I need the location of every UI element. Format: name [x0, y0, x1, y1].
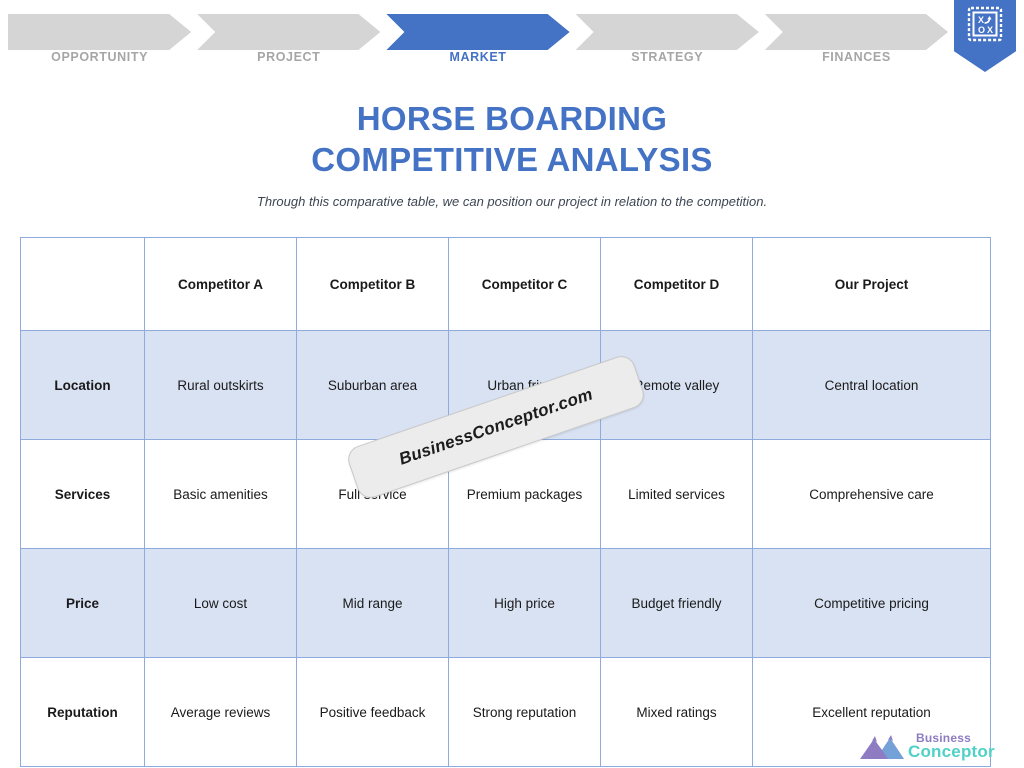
table-header-row: Competitor A Competitor B Competitor C C…: [21, 238, 991, 331]
svg-text:X: X: [978, 15, 984, 25]
step-label-project[interactable]: PROJECT: [197, 44, 380, 70]
svg-text:O: O: [978, 25, 985, 35]
step-label-opportunity[interactable]: OPPORTUNITY: [8, 44, 191, 70]
table-corner-cell: [21, 238, 145, 331]
brand-logo: Business Conceptor: [858, 730, 1010, 764]
column-header-competitor-a: Competitor A: [145, 238, 297, 331]
page-title-block: HORSE BOARDING COMPETITIVE ANALYSIS Thro…: [0, 98, 1024, 209]
cell-reputation-competitor-a: Average reviews: [145, 658, 297, 767]
cell-price-competitor-a: Low cost: [145, 549, 297, 658]
cell-reputation-competitor-b: Positive feedback: [297, 658, 449, 767]
column-header-competitor-c: Competitor C: [449, 238, 601, 331]
column-header-our-project: Our Project: [753, 238, 991, 331]
stepper-labels: OPPORTUNITY PROJECT MARKET STRATEGY FINA…: [8, 44, 948, 70]
cell-price-our-project: Competitive pricing: [753, 549, 991, 658]
page-title-line1: HORSE BOARDING: [0, 98, 1024, 139]
cell-services-competitor-a: Basic amenities: [145, 440, 297, 549]
strategy-playbook-icon: X O X: [965, 4, 1005, 44]
cell-location-our-project: Central location: [753, 331, 991, 440]
cell-services-our-project: Comprehensive care: [753, 440, 991, 549]
row-label-reputation: Reputation: [21, 658, 145, 767]
row-label-services: Services: [21, 440, 145, 549]
svg-text:X: X: [987, 25, 993, 35]
competitive-analysis-table: Competitor A Competitor B Competitor C C…: [20, 237, 991, 767]
cell-reputation-competitor-c: Strong reputation: [449, 658, 601, 767]
column-header-competitor-b: Competitor B: [297, 238, 449, 331]
step-label-finances[interactable]: FINANCES: [765, 44, 948, 70]
row-label-location: Location: [21, 331, 145, 440]
logo-word-conceptor: Conceptor: [908, 742, 995, 762]
table-row: Price Low cost Mid range High price Budg…: [21, 549, 991, 658]
cell-services-competitor-d: Limited services: [601, 440, 753, 549]
step-label-strategy[interactable]: STRATEGY: [576, 44, 759, 70]
progress-stepper: OPPORTUNITY PROJECT MARKET STRATEGY FINA…: [0, 0, 1024, 84]
cell-price-competitor-c: High price: [449, 549, 601, 658]
table-row: Services Basic amenities Full service Pr…: [21, 440, 991, 549]
mountain-icon: [858, 734, 914, 760]
table-row: Reputation Average reviews Positive feed…: [21, 658, 991, 767]
cell-price-competitor-d: Budget friendly: [601, 549, 753, 658]
cell-location-competitor-a: Rural outskirts: [145, 331, 297, 440]
page-title-line2: COMPETITIVE ANALYSIS: [0, 139, 1024, 180]
cell-reputation-competitor-d: Mixed ratings: [601, 658, 753, 767]
page-subtitle: Through this comparative table, we can p…: [0, 194, 1024, 209]
strategy-playbook-badge[interactable]: X O X: [954, 0, 1016, 72]
step-label-market[interactable]: MARKET: [386, 44, 569, 70]
cell-price-competitor-b: Mid range: [297, 549, 449, 658]
column-header-competitor-d: Competitor D: [601, 238, 753, 331]
row-label-price: Price: [21, 549, 145, 658]
